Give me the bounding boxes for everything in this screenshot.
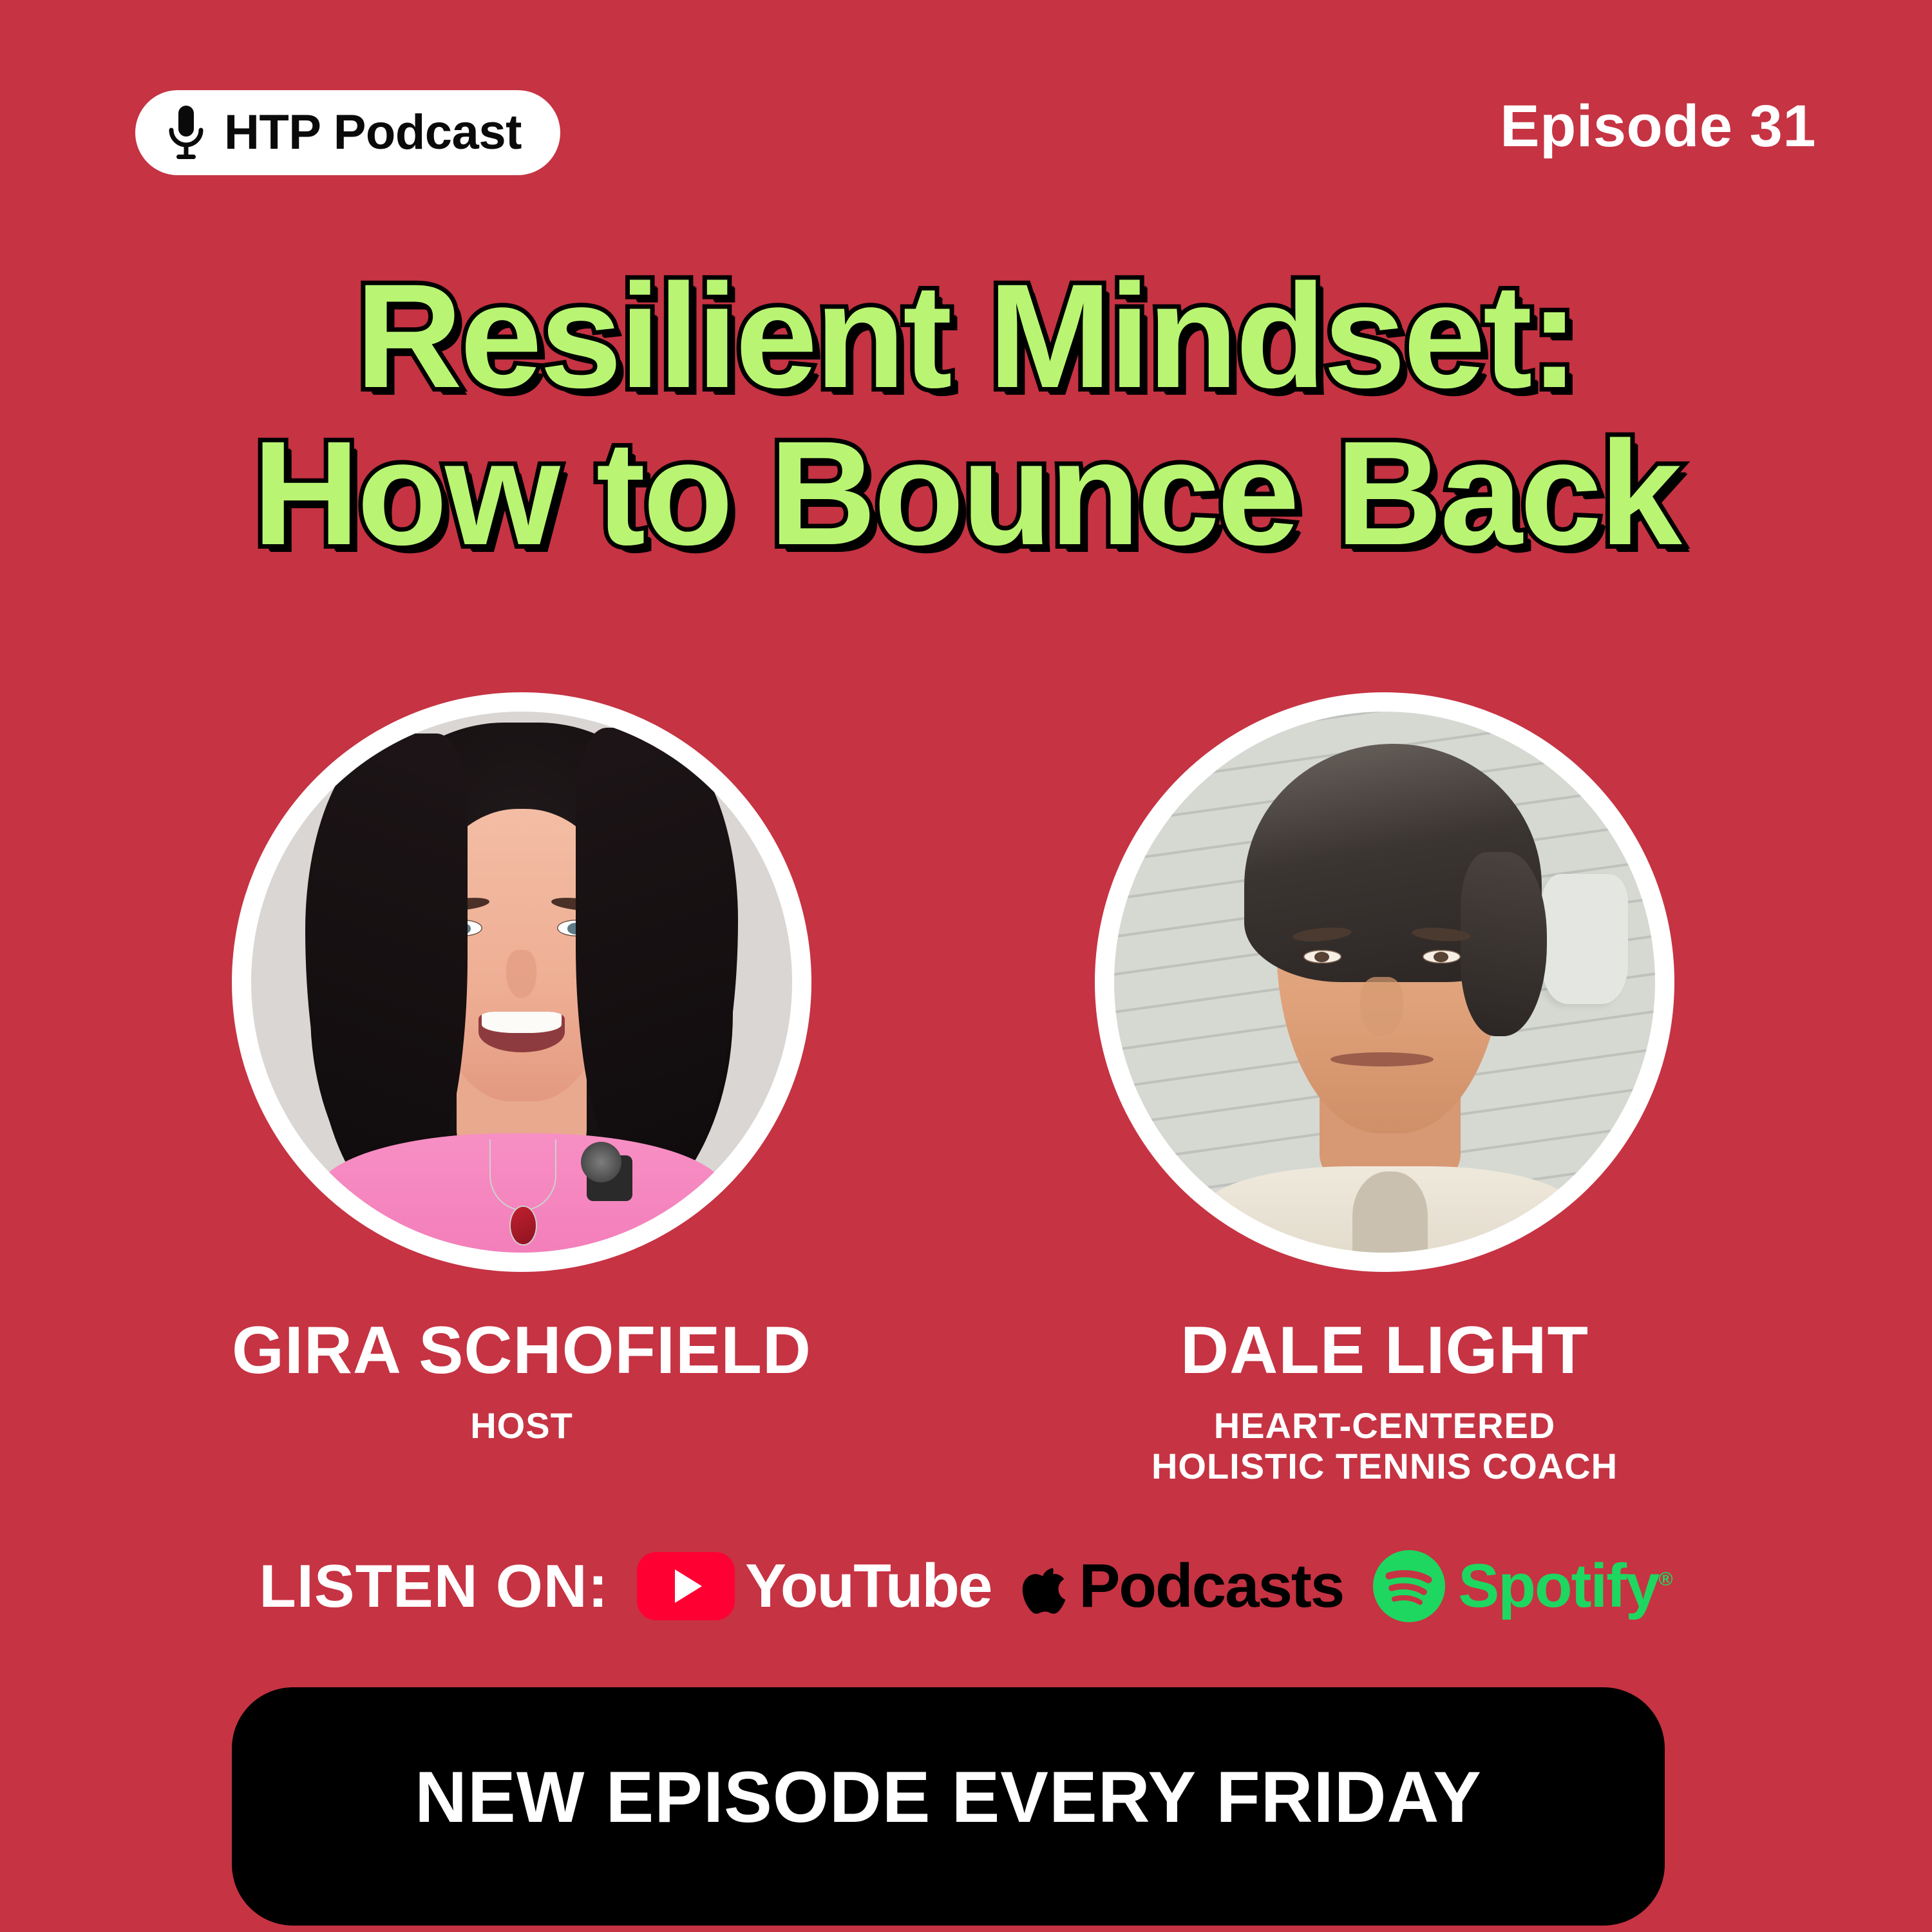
host-teeth [482, 1012, 562, 1033]
listen-on-label: LISTEN ON: [259, 1556, 609, 1616]
podcast-badge-label: HTP Podcast [224, 108, 522, 157]
episode-title-line-1: Resilient Mindset: [0, 258, 1932, 415]
guest-wall-fixture [1542, 874, 1628, 1004]
microphone-icon [166, 104, 206, 161]
apple-podcasts-wordmark: Podcasts [1079, 1555, 1343, 1617]
header-row: HTP Podcast Episode 31 [0, 0, 1932, 206]
guest-nose [1360, 977, 1403, 1036]
avatar-ring-host [232, 692, 811, 1272]
host-mic-windscreen [581, 1142, 621, 1182]
guest-name-guest: DALE LIGHT [966, 1317, 1803, 1384]
spotify-logo-icon [1372, 1549, 1446, 1624]
host-hair-left [305, 734, 468, 1198]
host-red-pendant [511, 1207, 536, 1245]
guest-hair-side [1461, 852, 1547, 1036]
guest-role-host: HOST [103, 1406, 940, 1446]
guest-name-host: GIRA SCHOFIELD [103, 1317, 940, 1384]
guest-collar [1352, 1171, 1428, 1253]
guest-card-guest: DALE LIGHT HEART-CENTERED HOLISTIC TENNI… [966, 692, 1803, 1486]
platform-youtube[interactable]: YouTube [637, 1552, 991, 1620]
episode-title: Resilient Mindset: How to Bounce Back [0, 258, 1932, 572]
host-mouth [478, 1012, 565, 1052]
guest-pupil-left [1314, 952, 1330, 962]
listen-on-row: LISTEN ON: YouTube Podcasts Spotify® [0, 1531, 1932, 1641]
guests-row: GIRA SCHOFIELD HOST DAL [0, 692, 1932, 1465]
youtube-play-icon [637, 1552, 735, 1620]
episode-title-line-2: How to Bounce Back [0, 415, 1932, 572]
guest-role-line-1: HEART-CENTERED [966, 1406, 1803, 1446]
spotify-wordmark-text: Spotify [1458, 1551, 1658, 1620]
avatar-photo-guest [1114, 712, 1655, 1253]
apple-logo-icon [1019, 1555, 1067, 1617]
avatar-ring-guest [1095, 692, 1674, 1272]
new-episode-banner-label: NEW EPISODE EVERY FRIDAY [415, 1761, 1482, 1833]
spotify-wordmark: Spotify® [1458, 1555, 1672, 1617]
guest-pupil-right [1434, 952, 1449, 962]
episode-number: Episode 31 [1500, 97, 1816, 156]
guest-role-guest: HEART-CENTERED HOLISTIC TENNIS COACH [966, 1406, 1803, 1486]
new-episode-banner: NEW EPISODE EVERY FRIDAY [232, 1687, 1665, 1926]
platform-apple-podcasts[interactable]: Podcasts [1019, 1555, 1343, 1617]
youtube-wordmark: YouTube [745, 1555, 991, 1617]
podcast-badge[interactable]: HTP Podcast [135, 90, 560, 175]
guest-role-line-2: HOLISTIC TENNIS COACH [966, 1446, 1803, 1487]
host-necklace-chain [489, 1139, 557, 1211]
avatar-photo-host [251, 712, 792, 1253]
guest-card-host: GIRA SCHOFIELD HOST [103, 692, 940, 1446]
spotify-registered-mark: ® [1659, 1569, 1673, 1590]
host-nose [506, 950, 536, 999]
guest-mouth [1331, 1052, 1434, 1066]
platform-spotify[interactable]: Spotify® [1372, 1549, 1672, 1624]
